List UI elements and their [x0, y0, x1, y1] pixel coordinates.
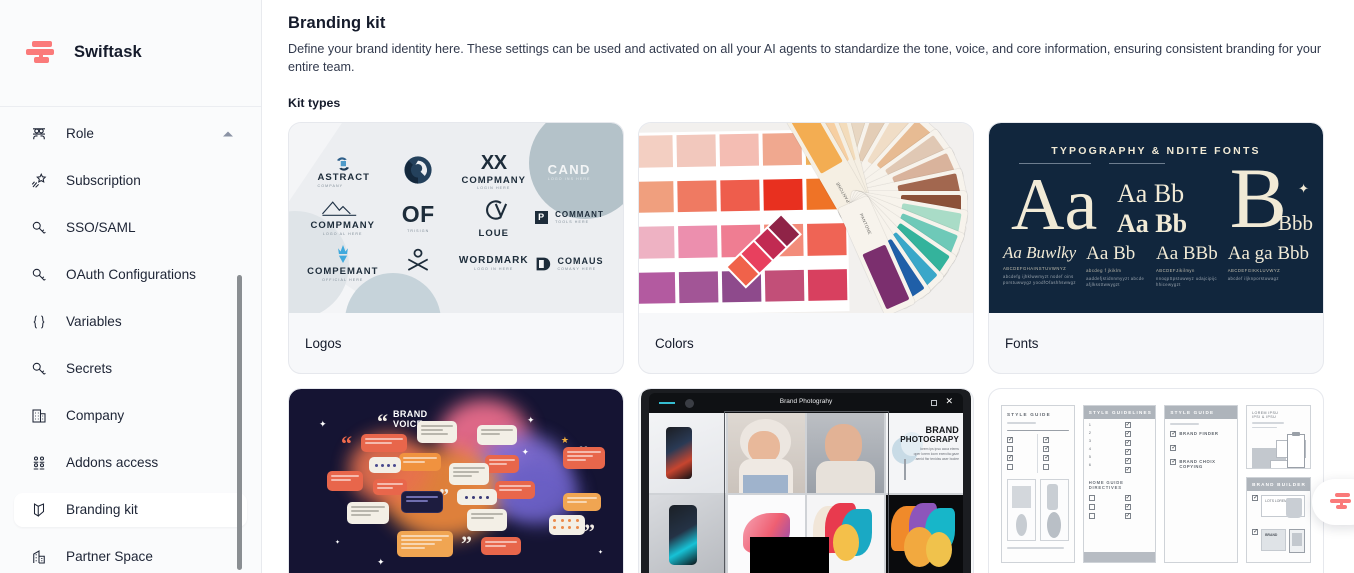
doc-header: STYLE GUIDE [1165, 406, 1237, 419]
pair-row: Aa Bb [1117, 179, 1187, 209]
logo-word: ASTRACT [318, 173, 370, 183]
sidebar-item-addons-access[interactable]: Addons access [14, 446, 247, 480]
sidebar-item-label: OAuth Configurations [66, 267, 196, 282]
logo-word: COMPMANY [311, 221, 375, 231]
support-chat-fab[interactable] [1312, 479, 1354, 525]
close-icon: ✕ [945, 397, 953, 406]
sample-lower: abcdef iljknporstuwagz [1228, 276, 1309, 282]
sidebar-nav: Role Subscription SSO/SAML [0, 107, 261, 573]
logo-sub: COMANY HERE [557, 268, 603, 272]
sample-upper: ABCDEFJikilmyn [1156, 268, 1218, 274]
logo-sub: LOGO INS HERE [548, 178, 591, 182]
sidebar-item-label: Secrets [66, 361, 112, 376]
sidebar-item-subscription[interactable]: Subscription [14, 164, 247, 198]
logo-word: CAND [548, 163, 591, 176]
kit-types-grid: ASTRACT COMPANY XX COMPMA [288, 122, 1324, 573]
sidebar-item-label: Branding kit [66, 502, 138, 517]
collage-logo: COMAUS COMANY HERE [535, 256, 603, 272]
sample-title: Aa BBb [1156, 243, 1218, 265]
sidebar-item-branding-kit[interactable]: Branding kit [14, 493, 247, 527]
main-content: Branding kit Define your brand identity … [262, 0, 1354, 573]
logo-sub: OFFICIAL HERE [307, 279, 378, 283]
pantone-swatch-photo: PANTONE PANTONE PANTONE PANTONE PANTONE … [639, 123, 973, 313]
photo-headline-2: PHOTOGRAPY [900, 435, 959, 444]
small-letter: Bbb [1278, 211, 1313, 236]
brand-voice-title-1: BRAND [393, 409, 428, 419]
doc-section: BRAND FINDER [1179, 431, 1232, 436]
kit-card-style-guide[interactable]: STYLE GUIDE [988, 388, 1324, 573]
brand-voice-illustration: “ “ ” ” ” ” BRAND VOICE [289, 389, 623, 573]
sample-title: Aa ga Bbb [1228, 243, 1309, 265]
page-title: Branding kit [288, 14, 1324, 33]
sidebar: Swiftask Role [0, 0, 262, 573]
gallery-black-overlay [750, 537, 829, 573]
section-title-kit-types: Kit types [288, 96, 1324, 110]
sidebar-item-label: Subscription [66, 173, 141, 188]
sidebar-item-sso-saml[interactable]: SSO/SAML [14, 211, 247, 245]
star-shooting-icon [28, 170, 50, 192]
sidebar-item-label: SSO/SAML [66, 220, 136, 235]
sample-title: Aa Buwlky [1003, 243, 1076, 263]
kit-card-brand-voice[interactable]: “ “ ” ” ” ” BRAND VOICE [288, 388, 624, 573]
sidebar-item-company[interactable]: Company [14, 399, 247, 433]
window-title: Brand Photograhy [649, 398, 963, 405]
book-open-icon [28, 499, 50, 521]
logo-sub: TOOLS HERE [555, 221, 604, 225]
sidebar-scrollbar[interactable] [237, 275, 242, 570]
sidebar-item-label: Partner Space [66, 549, 153, 564]
collage-logo: ASTRACT COMPANY [305, 155, 381, 189]
sidebar-item-role[interactable]: Role [14, 117, 247, 151]
pair-row: Aa Bb [1117, 209, 1187, 239]
sidebar-item-partner-space[interactable]: Partner Space [14, 540, 247, 573]
doc-header: STYLE GUIDE [1002, 406, 1074, 419]
logo-collage-image: ASTRACT COMPANY XX COMPMA [289, 123, 623, 313]
sidebar-item-label: Variables [66, 314, 122, 329]
collage-logo [401, 153, 435, 191]
sample-lower: nnoqpSpstuwwyz udajcipijchhicewygzt [1156, 276, 1218, 288]
users-grid-icon [28, 452, 50, 474]
sidebar-item-secrets[interactable]: Secrets [14, 352, 247, 386]
font-sample: Aa Buwlky ABCDEFGHAINSTUVWNYZ abcdefg ij… [1003, 243, 1076, 288]
sidebar-item-variables[interactable]: Variables [14, 305, 247, 339]
sample-upper: ABCDEFGIKKLUVWYZ [1228, 268, 1309, 274]
sample-lower: abcdefg ijhklwwmyzt nodef oinsporstuwwyg… [1003, 274, 1076, 286]
kit-card-label: Logos [289, 313, 623, 373]
page-description: Define your brand identity here. These s… [288, 40, 1324, 76]
logo-word: OF [402, 203, 435, 226]
kit-card-label: Colors [639, 313, 973, 373]
brand-name: Swiftask [74, 43, 142, 62]
logo-sub: LOGIN HERE [462, 187, 526, 191]
sample-lower: aaddefjstidnnmyyzt abcdeafjlkssttwwygzt [1086, 276, 1146, 288]
sample-upper: ABCDEFGHAINSTUVWNYZ [1003, 266, 1076, 272]
chevron-up-icon[interactable] [223, 131, 233, 136]
kit-card-brand-photography[interactable]: Brand Photograhy ✕ [638, 388, 974, 573]
sparkle-icon: ✦ [1298, 181, 1309, 197]
doc-section: HOME GUIDE DIRECTIVES [1089, 480, 1151, 490]
style-guide-documents: STYLE GUIDE [989, 389, 1323, 573]
sample-upper: abcdeg f jkiklm [1086, 268, 1146, 274]
collage-logo: COMPMANY LOGO AL HERE [311, 199, 375, 236]
kit-card-colors[interactable]: PANTONE PANTONE PANTONE PANTONE PANTONE … [638, 122, 974, 374]
sidebar-item-label: Role [66, 126, 94, 141]
office-building-icon [28, 546, 50, 568]
braces-icon [28, 311, 50, 333]
logo-sub: COMPANY [318, 185, 370, 189]
display-letter: Aa [1011, 167, 1097, 243]
logo-word: LOUE [478, 229, 510, 239]
collage-logo [403, 247, 433, 281]
brand-photography-gallery: Brand Photograhy ✕ [639, 389, 973, 573]
collage-logo: XX COMPMANY LOGIN HERE [462, 153, 526, 191]
font-sample: Aa BBb ABCDEFJikilmyn nnoqpSpstuwwyz uda… [1156, 243, 1218, 288]
font-sample: Aa Bb abcdeg f jkiklm aaddefjstidnnmyyzt… [1086, 243, 1146, 288]
logo-sub: LOGO AL HERE [311, 233, 375, 237]
kit-card-fonts[interactable]: TYPOGRAPHY & NDITE FONTS Aa Aa Bb Aa Bb … [988, 122, 1324, 374]
logo-word: COMPEMANT [307, 267, 378, 277]
sidebar-item-oauth-configurations[interactable]: OAuth Configurations [14, 258, 247, 292]
logo-sub: TRISIGN [402, 230, 435, 234]
key-icon [28, 358, 50, 380]
brand-header[interactable]: Swiftask [0, 0, 261, 107]
swiftask-chat-bubble-icon [1330, 492, 1354, 513]
swiftask-logo-icon [26, 39, 60, 67]
doc-header: STYLE GUIDELINES [1084, 406, 1156, 419]
logo-word: COMAUS [557, 257, 603, 266]
photo-headline-1: BRAND [900, 425, 959, 435]
kit-card-logos[interactable]: ASTRACT COMPANY XX COMPMA [288, 122, 624, 374]
key-icon [28, 217, 50, 239]
logo-sub: LOGO IN HERE [459, 268, 529, 272]
doc-header: BRAND BUILDER [1247, 478, 1310, 491]
collage-logo: CAND LOGO INS HERE [548, 163, 591, 182]
collage-logo: OF TRISIGN [402, 203, 435, 234]
collage-logo: WORDMARK LOGO IN HERE [459, 256, 529, 272]
building-icon [28, 405, 50, 427]
key-icon [28, 264, 50, 286]
doc-section: BRAND CHOIX COPYING [1179, 459, 1232, 469]
collage-logo: COMPEMANT OFFICIAL HERE [307, 245, 378, 282]
logo-word: WORDMARK [459, 256, 529, 266]
logo-mark: XX [462, 153, 526, 173]
sample-title: Aa Bb [1086, 243, 1146, 265]
logo-badge: P [535, 211, 548, 224]
font-sample: Aa ga Bbb ABCDEFGIKKLUVWYZ abcdef iljknp… [1228, 243, 1309, 288]
maximize-icon [931, 400, 937, 406]
role-icon [28, 123, 50, 145]
sidebar-item-label: Company [66, 408, 124, 423]
collage-logo: LOUE [478, 197, 510, 239]
kit-card-label: Fonts [989, 313, 1323, 373]
logo-word: COMMANT [555, 211, 604, 219]
sidebar-item-label: Addons access [66, 455, 158, 470]
logo-word: COMPMANY [462, 176, 526, 186]
typography-poster-image: TYPOGRAPHY & NDITE FONTS Aa Aa Bb Aa Bb … [989, 123, 1323, 313]
collage-logo: P COMMANT TOOLS HERE [535, 210, 604, 226]
